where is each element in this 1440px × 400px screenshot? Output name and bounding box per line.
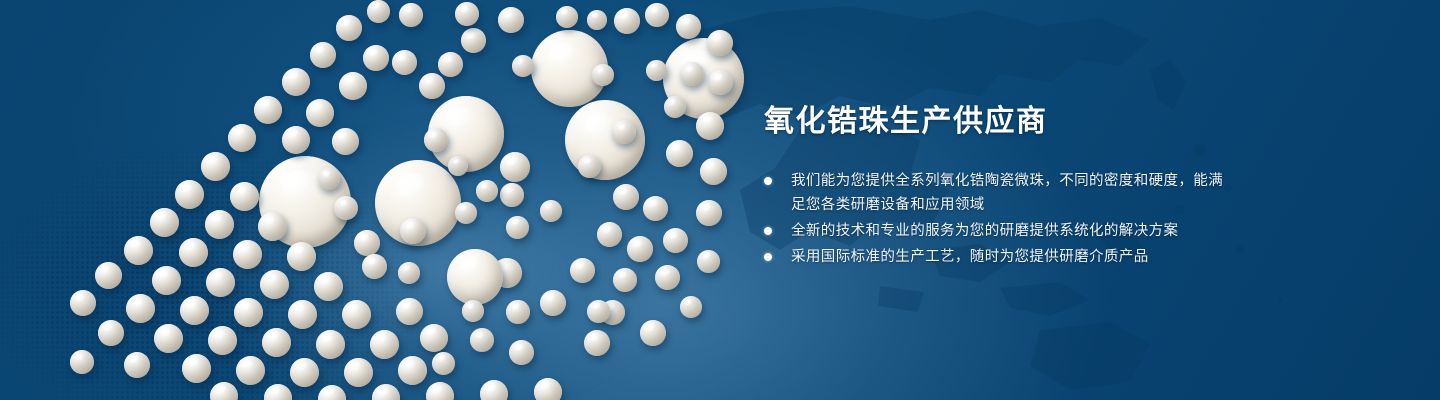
zirconia-bead xyxy=(480,380,508,400)
zirconia-bead xyxy=(180,296,209,325)
zirconia-bead xyxy=(372,384,400,400)
zirconia-bead xyxy=(392,50,417,75)
zirconia-bead xyxy=(627,236,653,262)
list-item: 我们能为您提供全系列氧化锆陶瓷微珠，不同的密度和硬度，能满足您各类研磨设备和应用… xyxy=(764,169,1234,217)
zirconia-bead xyxy=(124,236,153,265)
zirconia-bead xyxy=(498,7,524,33)
zirconia-bead xyxy=(354,230,380,256)
list-item: 采用国际标准的生产工艺，随时为您提供研磨介质产品 xyxy=(764,245,1234,269)
zirconia-bead xyxy=(154,324,183,353)
zirconia-bead xyxy=(500,152,530,182)
zirconia-bead xyxy=(152,266,181,295)
zirconia-bead xyxy=(290,358,319,387)
zirconia-bead xyxy=(236,356,265,385)
zirconia-bead xyxy=(336,15,362,41)
zirconia-bead xyxy=(396,298,423,325)
zirconia-bead xyxy=(419,73,445,99)
list-item-label: 采用国际标准的生产工艺，随时为您提供研磨介质产品 xyxy=(791,249,1149,265)
zirconia-bead xyxy=(500,183,524,207)
zirconia-bead xyxy=(426,382,454,400)
feature-list: 我们能为您提供全系列氧化锆陶瓷微珠，不同的密度和硬度，能满足您各类研磨设备和应用… xyxy=(764,169,1234,269)
hero-banner: 氧化锆珠生产供应商 我们能为您提供全系列氧化锆陶瓷微珠，不同的密度和硬度，能满足… xyxy=(0,0,1440,400)
zirconia-bead xyxy=(318,168,340,190)
zirconia-bead xyxy=(565,100,645,180)
zirconia-bead xyxy=(398,262,420,284)
zirconia-bead xyxy=(264,384,292,400)
zirconia-bead xyxy=(432,352,455,375)
zirconia-bead xyxy=(584,330,610,356)
zirconia-bead xyxy=(512,55,534,77)
page-title: 氧化锆珠生产供应商 xyxy=(764,104,1234,140)
zirconia-bead xyxy=(362,254,387,279)
zirconia-bead xyxy=(210,382,238,400)
zirconia-bead-cluster-image xyxy=(0,0,760,400)
zirconia-bead xyxy=(587,300,610,323)
zirconia-bead xyxy=(205,210,234,239)
zirconia-bead xyxy=(400,218,426,244)
zirconia-bead xyxy=(282,126,310,154)
zirconia-bead xyxy=(208,326,237,355)
zirconia-bead xyxy=(700,158,727,185)
zirconia-bead xyxy=(534,378,562,400)
zirconia-bead xyxy=(175,180,204,209)
zirconia-bead xyxy=(126,294,155,323)
zirconia-bead xyxy=(708,70,733,95)
zirconia-bead xyxy=(334,196,358,220)
zirconia-bead xyxy=(182,354,211,383)
zirconia-bead xyxy=(314,272,343,301)
zirconia-bead xyxy=(318,385,346,400)
zirconia-bead xyxy=(666,140,693,167)
zirconia-bead xyxy=(680,62,704,86)
zirconia-bead xyxy=(367,0,390,23)
zirconia-bead xyxy=(696,200,722,226)
zirconia-bead xyxy=(462,300,484,322)
zirconia-bead xyxy=(310,42,336,68)
zirconia-bead xyxy=(262,328,291,357)
zirconia-bead xyxy=(614,8,640,34)
zirconia-bead xyxy=(98,320,124,346)
zirconia-bead xyxy=(640,320,666,346)
zirconia-bead xyxy=(612,120,636,144)
zirconia-bead xyxy=(258,212,287,241)
zirconia-bead xyxy=(578,155,601,178)
bullet-icon xyxy=(764,177,772,185)
bullet-icon xyxy=(764,253,772,261)
zirconia-bead xyxy=(288,300,317,329)
zirconia-bead xyxy=(370,330,399,359)
zirconia-bead xyxy=(592,64,614,86)
zirconia-bead xyxy=(613,268,637,292)
zirconia-bead xyxy=(306,99,334,127)
list-item-label: 全新的技术和专业的服务为您的研磨提供系统化的解决方案 xyxy=(791,223,1178,239)
zirconia-bead xyxy=(455,202,477,224)
zirconia-bead xyxy=(287,242,316,271)
zirconia-bead xyxy=(476,180,498,202)
zirconia-bead xyxy=(179,238,208,267)
zirconia-bead xyxy=(70,350,94,374)
zirconia-bead xyxy=(655,265,680,290)
zirconia-bead xyxy=(461,28,486,53)
bullet-icon xyxy=(764,227,772,235)
zirconia-bead xyxy=(570,258,595,283)
zirconia-bead xyxy=(506,300,530,324)
zirconia-bead xyxy=(424,128,448,152)
zirconia-bead xyxy=(399,3,423,27)
zirconia-bead xyxy=(680,296,702,318)
list-item: 全新的技术和专业的服务为您的研磨提供系统化的解决方案 xyxy=(764,219,1234,243)
zirconia-bead xyxy=(150,208,179,237)
zirconia-bead xyxy=(228,124,256,152)
zirconia-bead xyxy=(447,249,503,305)
banner-copy: 氧化锆珠生产供应商 我们能为您提供全系列氧化锆陶瓷微珠，不同的密度和硬度，能满足… xyxy=(764,104,1234,271)
zirconia-bead xyxy=(540,290,566,316)
zirconia-bead xyxy=(438,52,463,77)
zirconia-bead xyxy=(509,340,534,365)
zirconia-bead xyxy=(124,352,150,378)
zirconia-bead xyxy=(230,182,259,211)
zirconia-bead xyxy=(663,228,688,253)
zirconia-bead xyxy=(260,270,289,299)
zirconia-bead xyxy=(646,60,667,81)
zirconia-bead xyxy=(707,30,733,56)
zirconia-bead xyxy=(448,156,468,176)
list-item-label: 我们能为您提供全系列氧化锆陶瓷微珠，不同的密度和硬度，能满足您各类研磨设备和应用… xyxy=(791,173,1223,213)
zirconia-bead xyxy=(613,184,639,210)
zirconia-bead xyxy=(254,96,282,124)
zirconia-bead xyxy=(201,152,230,181)
zirconia-bead xyxy=(344,358,373,387)
zirconia-bead xyxy=(316,330,345,359)
zirconia-bead xyxy=(70,290,96,316)
zirconia-bead xyxy=(506,216,529,239)
zirconia-bead xyxy=(363,45,389,71)
zirconia-bead xyxy=(282,68,310,96)
zirconia-bead xyxy=(206,268,235,297)
zirconia-bead xyxy=(696,112,724,140)
zirconia-bead xyxy=(597,222,622,247)
zirconia-bead xyxy=(95,262,122,289)
zirconia-bead xyxy=(556,6,578,28)
zirconia-bead xyxy=(540,200,562,222)
zirconia-bead xyxy=(643,196,668,221)
zirconia-bead xyxy=(645,3,669,27)
zirconia-bead xyxy=(455,2,479,26)
zirconia-bead xyxy=(420,324,448,352)
zirconia-bead xyxy=(234,298,263,327)
zirconia-bead xyxy=(676,14,701,39)
zirconia-bead xyxy=(339,72,367,100)
zirconia-bead xyxy=(398,356,427,385)
zirconia-bead xyxy=(342,300,371,329)
zirconia-bead xyxy=(587,10,607,30)
zirconia-bead xyxy=(697,250,720,273)
zirconia-bead xyxy=(233,240,262,269)
zirconia-bead xyxy=(470,328,494,352)
zirconia-bead xyxy=(664,96,686,118)
zirconia-bead xyxy=(332,128,359,155)
